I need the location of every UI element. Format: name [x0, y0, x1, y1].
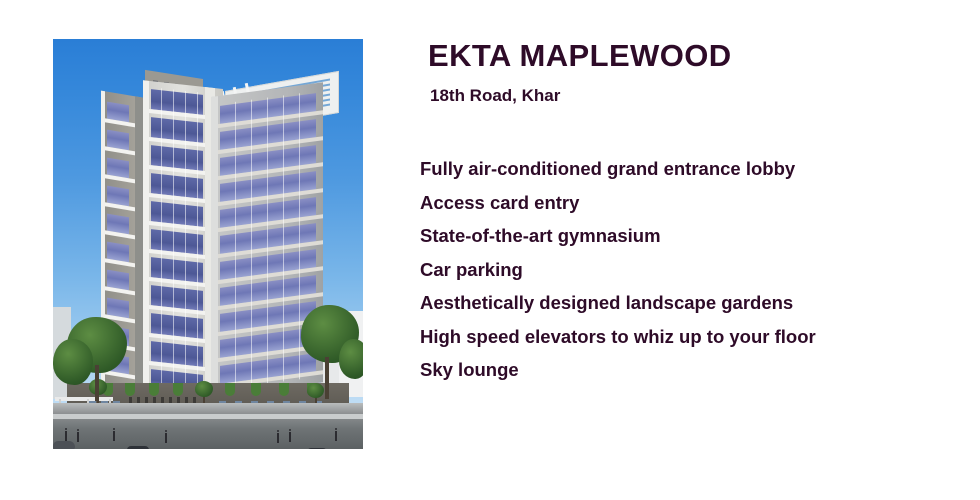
palm-crown [307, 383, 324, 398]
car-roof [127, 446, 149, 449]
list-item: Car parking [420, 253, 960, 287]
pedestrian [77, 432, 79, 442]
car [53, 441, 75, 449]
pedestrian [289, 432, 291, 442]
property-listing-page: EKTA MAPLEWOOD 18th Road, Khar Fully air… [0, 0, 980, 500]
pedestrian [65, 431, 67, 441]
pedestrian [277, 433, 279, 443]
list-item: High speed elevators to whiz up to your … [420, 320, 960, 354]
pedestrian-head [289, 429, 291, 431]
property-info-panel: EKTA MAPLEWOOD 18th Road, Khar Fully air… [420, 0, 960, 500]
amenities-list: Fully air-conditioned grand entrance lob… [420, 152, 960, 387]
pedestrian [113, 431, 115, 441]
pedestrian-head [113, 428, 115, 430]
list-item: State-of-the-art gymnasium [420, 219, 960, 253]
list-item: Sky lounge [420, 353, 960, 387]
car-roof [307, 448, 327, 449]
tree [339, 339, 363, 379]
list-item: Aesthetically designed landscape gardens [420, 286, 960, 320]
kerb [53, 414, 363, 419]
page-title: EKTA MAPLEWOOD [428, 38, 732, 74]
list-item: Access card entry [420, 186, 960, 220]
pedestrian-head [335, 428, 337, 430]
road-ground [53, 403, 363, 449]
tree [53, 339, 93, 385]
pedestrian-head [277, 430, 279, 432]
pedestrian-head [65, 428, 67, 430]
pedestrian-head [77, 429, 79, 431]
palm-crown [195, 381, 213, 397]
tree-trunk [95, 365, 99, 401]
entry-canopy [55, 397, 113, 401]
list-item: Fully air-conditioned grand entrance lob… [420, 152, 960, 186]
pedestrian [335, 431, 337, 441]
tree-trunk [325, 357, 329, 399]
tower-massing [53, 39, 363, 449]
building-rendering [53, 39, 363, 449]
pedestrian-head [165, 430, 167, 432]
property-address: 18th Road, Khar [430, 86, 560, 106]
pedestrian [165, 433, 167, 443]
